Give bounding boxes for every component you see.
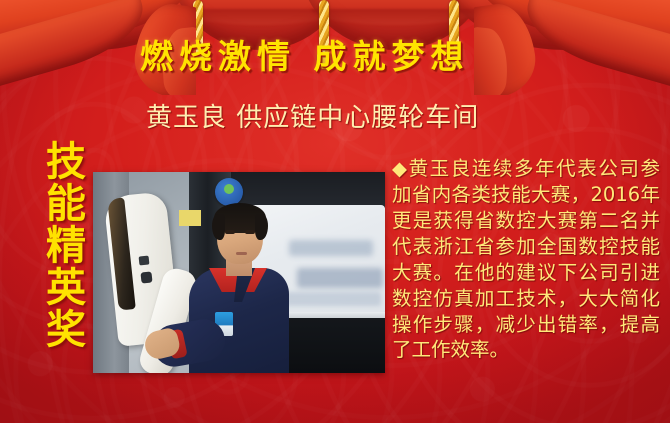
machine-part-blur-2 — [297, 268, 383, 288]
page-title: 燃烧激情 成就梦想 — [140, 40, 560, 75]
award-vertical-label: 技能精英奖 — [36, 140, 82, 350]
subtitle-name-department: 黄玉良 供应链中心腰轮车间 — [146, 103, 606, 134]
worker-eye-right — [245, 230, 255, 234]
machine-part-blur-1 — [289, 240, 373, 256]
machine-yellow-marker — [179, 210, 201, 226]
control-button-2 — [140, 271, 152, 283]
worker-eye-left — [225, 230, 235, 234]
achievement-description: ◆黄玉良连续多年代表公司参加省内各类技能大赛，2016年更是获得省数控大赛第二名… — [392, 156, 660, 363]
worker-photo — [93, 172, 385, 373]
worker-hair-side-left — [212, 214, 225, 240]
worker-mouth — [236, 252, 247, 255]
machine-part-blur-3 — [285, 292, 381, 306]
control-button-1 — [139, 256, 150, 266]
machine-logo-badge-icon — [215, 178, 243, 206]
honor-poster: 燃烧激情 成就梦想 黄玉良 供应链中心腰轮车间 技能精英奖 — [0, 0, 670, 423]
